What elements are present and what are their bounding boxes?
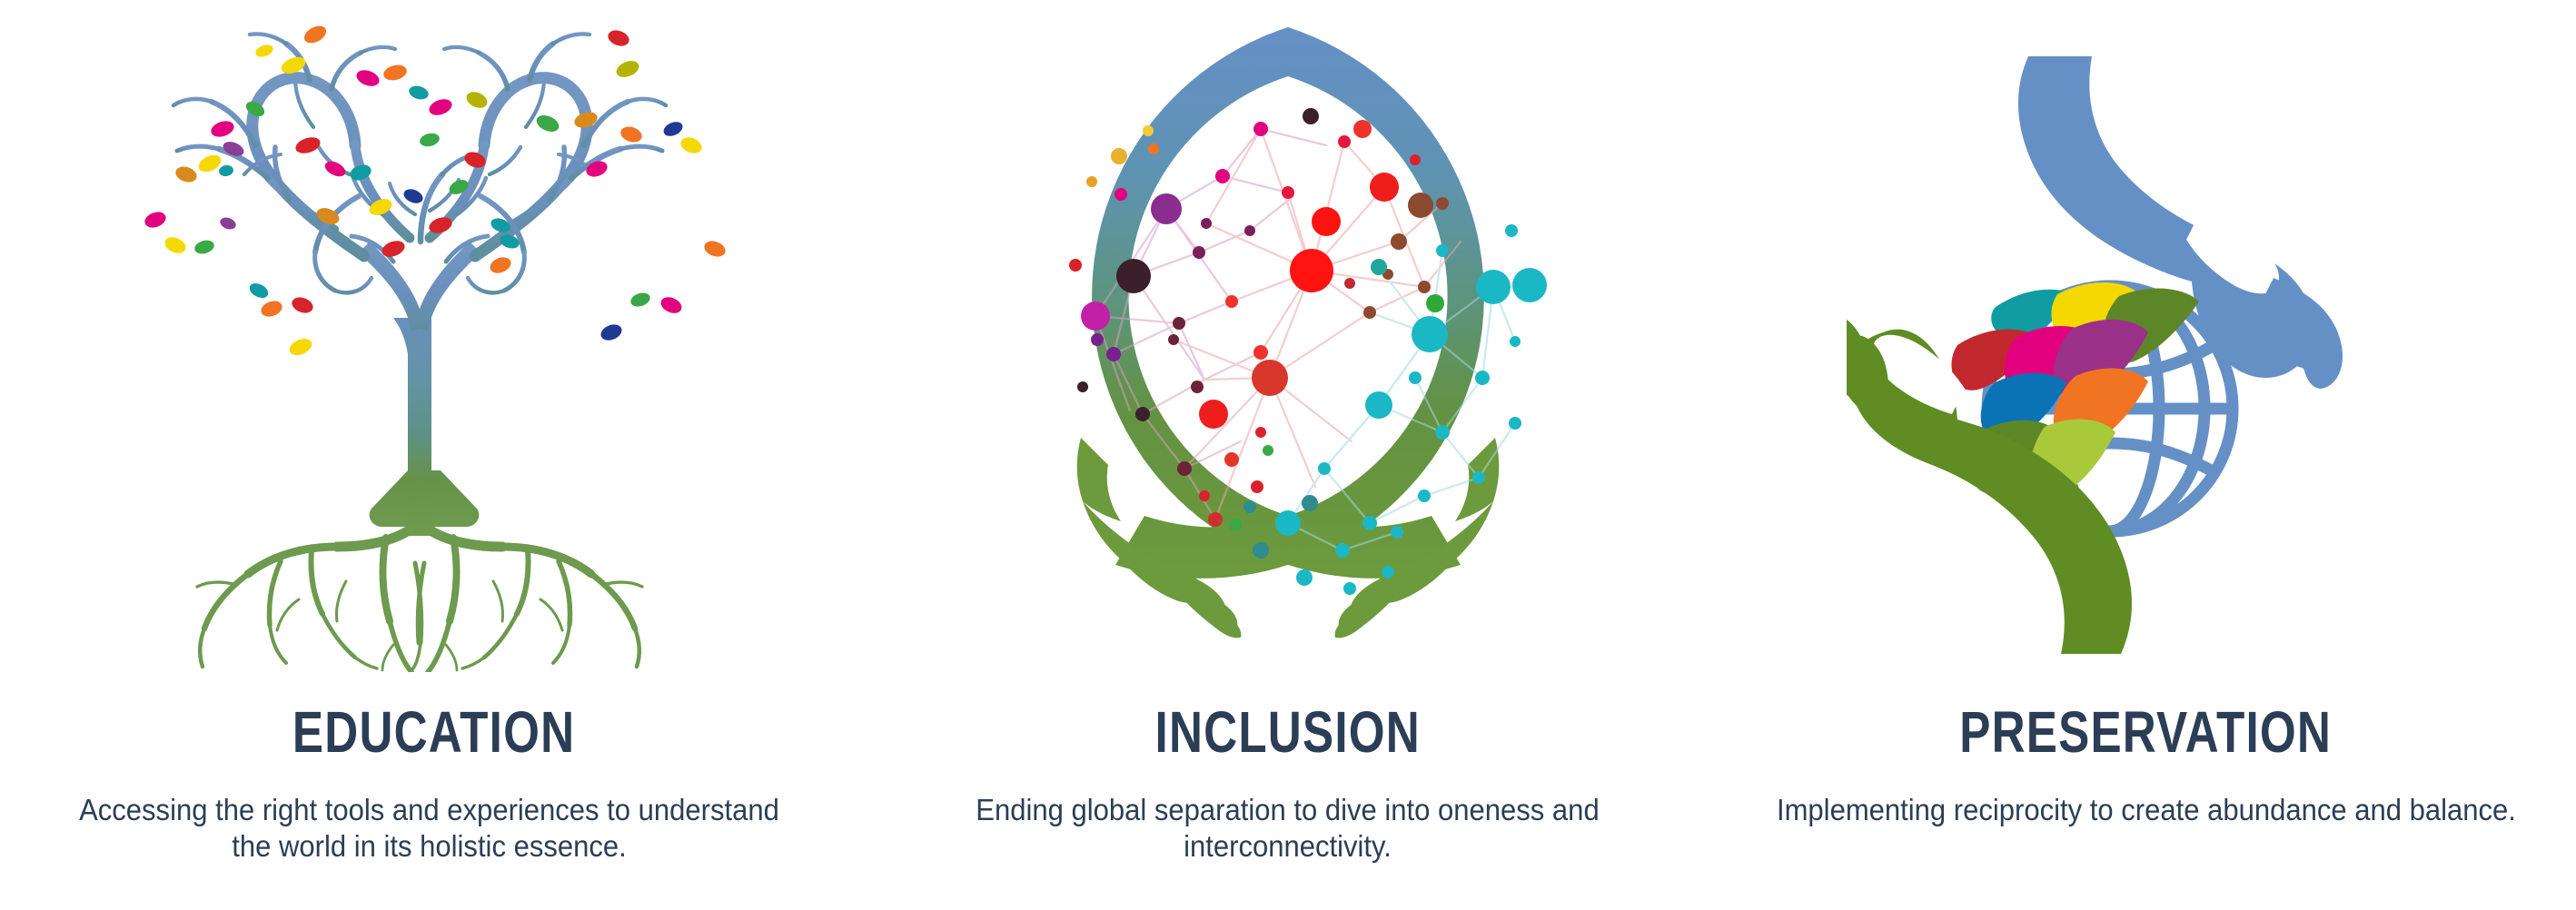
pillar-heading-education: EDUCATION	[292, 703, 575, 761]
pillar-column-inclusion: INCLUSION Ending global separation to di…	[858, 0, 1717, 910]
pillar-column-preservation: PRESERVATION Implementing reciprocity to…	[1717, 0, 2575, 910]
pillar-description-education: Accessing the right tools and experience…	[25, 792, 832, 865]
two-hands-cradling-globe-with-leaves-icon	[1717, 0, 2575, 690]
pillar-description-preservation: Implementing reciprocity to create abund…	[1746, 792, 2547, 828]
heart-shaped-tree-with-roots-icon	[0, 0, 858, 690]
pillar-column-education: EDUCATION Accessing the right tools and …	[0, 0, 858, 910]
network-globe-in-cupped-hands-icon	[858, 0, 1717, 687]
pillar-heading-inclusion: INCLUSION	[1154, 703, 1420, 761]
pillar-heading-preservation: PRESERVATION	[1960, 703, 2333, 761]
pillar-description-inclusion: Ending global separation to dive into on…	[884, 792, 1690, 865]
three-pillars-graphic: EDUCATION Accessing the right tools and …	[0, 0, 2576, 910]
